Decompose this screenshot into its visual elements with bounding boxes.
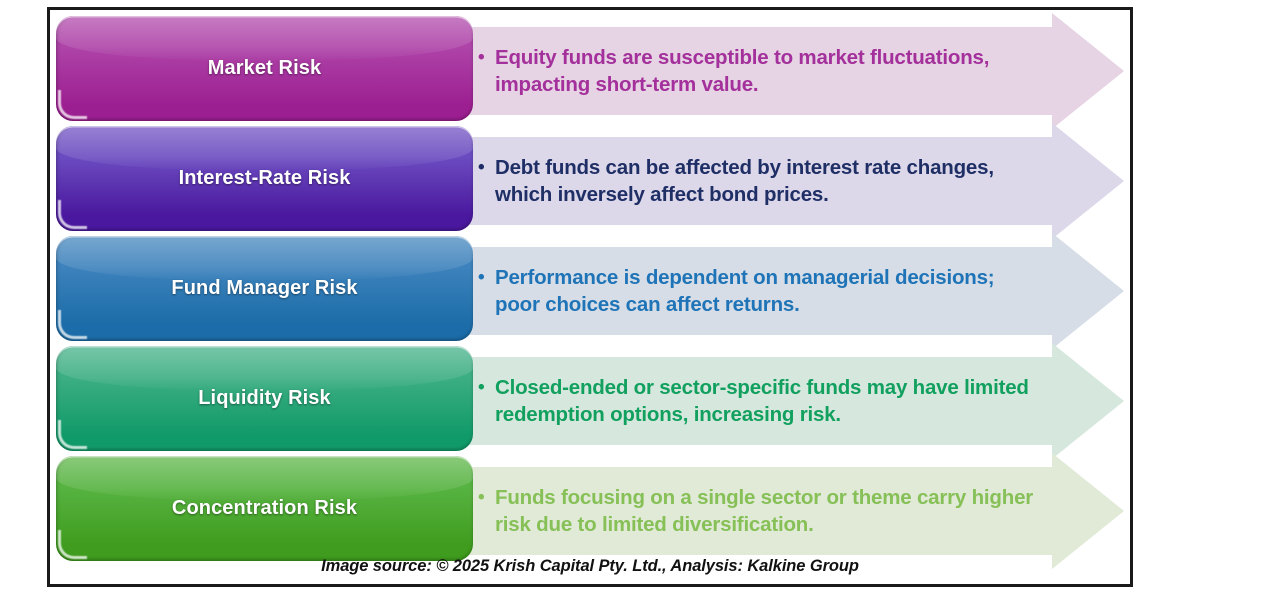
bullet-icon: • — [478, 45, 484, 70]
risk-description: • Funds focusing on a single sector or t… — [478, 484, 1038, 538]
risk-description-arrow: • Debt funds can be affected by interest… — [456, 137, 1122, 225]
arrow-head-icon — [1052, 233, 1124, 349]
risk-description: • Debt funds can be affected by interest… — [478, 154, 1038, 208]
risk-label: Market Risk — [56, 16, 473, 121]
risk-row: • Equity funds are susceptible to market… — [50, 16, 1130, 126]
risk-description-text: Closed-ended or sector-specific funds ma… — [495, 374, 1038, 428]
risk-label-box[interactable]: Fund Manager Risk — [56, 236, 473, 341]
risk-label: Concentration Risk — [56, 456, 473, 561]
risk-label-box[interactable]: Market Risk — [56, 16, 473, 121]
risk-row: • Funds focusing on a single sector or t… — [50, 456, 1130, 566]
risk-row: • Debt funds can be affected by interest… — [50, 126, 1130, 236]
bullet-icon: • — [478, 265, 484, 290]
risk-label: Interest-Rate Risk — [56, 126, 473, 231]
risk-description-text: Performance is dependent on managerial d… — [495, 264, 1038, 318]
risk-label: Fund Manager Risk — [56, 236, 473, 341]
arrow-head-icon — [1052, 343, 1124, 459]
risk-description-arrow: • Equity funds are susceptible to market… — [456, 27, 1122, 115]
risk-description-arrow: • Performance is dependent on managerial… — [456, 247, 1122, 335]
risk-label: Liquidity Risk — [56, 346, 473, 451]
risk-description: • Equity funds are susceptible to market… — [478, 44, 1038, 98]
bullet-icon: • — [478, 485, 484, 510]
risk-description-text: Equity funds are susceptible to market f… — [495, 44, 1038, 98]
risk-description-text: Debt funds can be affected by interest r… — [495, 154, 1038, 208]
risk-description-arrow: • Closed-ended or sector-specific funds … — [456, 357, 1122, 445]
arrow-head-icon — [1052, 13, 1124, 129]
bullet-icon: • — [478, 375, 484, 400]
risk-infographic: • Equity funds are susceptible to market… — [47, 7, 1133, 587]
source-caption: Image source: © 2025 Krish Capital Pty. … — [50, 557, 1130, 576]
risk-label-box[interactable]: Concentration Risk — [56, 456, 473, 561]
risk-description: • Performance is dependent on managerial… — [478, 264, 1038, 318]
arrow-head-icon — [1052, 123, 1124, 239]
risk-description-text: Funds focusing on a single sector or the… — [495, 484, 1038, 538]
risk-label-box[interactable]: Interest-Rate Risk — [56, 126, 473, 231]
risk-row-list: • Equity funds are susceptible to market… — [50, 10, 1130, 584]
risk-description: • Closed-ended or sector-specific funds … — [478, 374, 1038, 428]
risk-row: • Performance is dependent on managerial… — [50, 236, 1130, 346]
risk-label-box[interactable]: Liquidity Risk — [56, 346, 473, 451]
arrow-head-icon — [1052, 453, 1124, 569]
risk-row: • Closed-ended or sector-specific funds … — [50, 346, 1130, 456]
risk-description-arrow: • Funds focusing on a single sector or t… — [456, 467, 1122, 555]
bullet-icon: • — [478, 155, 484, 180]
